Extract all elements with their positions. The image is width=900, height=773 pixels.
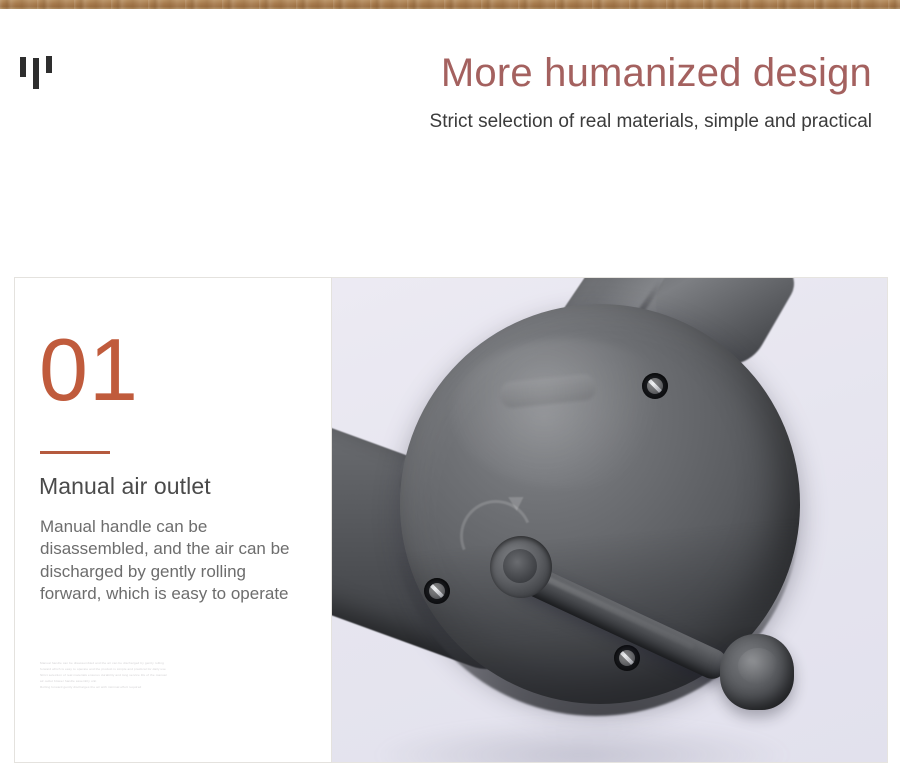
crank-hub-inner [503,549,537,583]
feature-title: Manual air outlet [39,473,211,500]
screw-bottom-left [424,578,450,604]
feature-number: 01 [39,326,139,414]
fine-print-block: Manual handle can be disassembled and th… [40,660,312,690]
accent-rule [40,451,110,454]
feature-body: Manual handle can be disassembled, and t… [40,516,310,606]
cover-plate-highlight [452,338,682,488]
page-title: More humanized design [441,51,872,96]
brand-bar-1 [20,57,26,77]
fine-print-line: Rolling forward gently discharges the ai… [40,684,312,690]
brand-bars-icon [20,56,66,92]
brand-bar-3 [46,56,52,73]
screw-top-right [642,373,668,399]
page-subtitle: Strict selection of real materials, simp… [430,110,872,134]
product-photo-canvas [332,278,887,762]
page-header: More humanized design Strict selection o… [0,9,900,269]
product-photo [332,277,888,763]
crank-knob [720,634,794,710]
brand-bar-2 [33,58,39,89]
top-wood-bar [0,0,900,9]
product-shadow [372,720,792,763]
feature-info-card: 01 Manual air outlet Manual handle can b… [14,277,332,763]
screw-bottom-right [614,645,640,671]
feature-section: 01 Manual air outlet Manual handle can b… [14,277,888,763]
